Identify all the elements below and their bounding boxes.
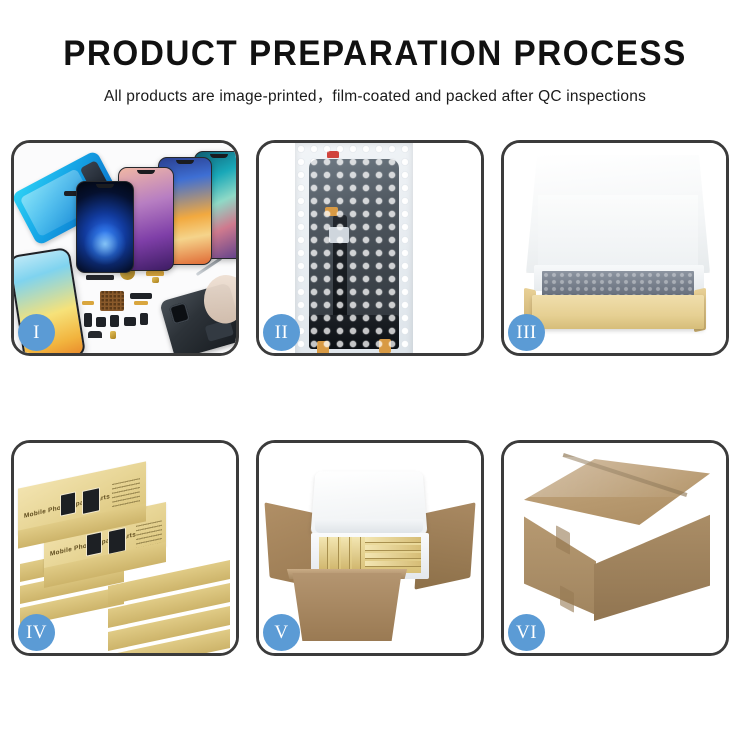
phone-display-fan-image (76, 151, 236, 273)
page-title: PRODUCT PREPARATION PROCESS (19, 36, 732, 71)
panel-5-numeral-badge: V (263, 614, 300, 651)
page-subtitle: All products are image-printed，film-coat… (0, 84, 750, 106)
process-step-panel-5: V (256, 440, 484, 656)
panel-6-numeral-badge: VI (508, 614, 545, 651)
process-step-panel-4: Mobile Phone Spare Parts Mobile Phone Sp… (11, 440, 239, 656)
panel-1-numeral-badge: I (18, 314, 55, 351)
panel-3-numeral-badge: III (508, 314, 545, 351)
process-step-panel-2: II (256, 140, 484, 356)
panel-4-numeral-badge: IV (18, 614, 55, 651)
process-step-panel-6: VI (501, 440, 729, 656)
carton-body-image (285, 573, 409, 641)
page-header: PRODUCT PREPARATION PROCESS All products… (0, 0, 750, 106)
process-step-panel-1: I (11, 140, 239, 356)
bubble-wrap-bag-image (295, 143, 413, 353)
spare-parts-group-image (80, 261, 236, 353)
panel-2-numeral-badge: II (263, 314, 300, 351)
retail-boxes-inside-image (319, 537, 421, 573)
kraft-tray-image (532, 295, 704, 329)
process-panel-grid: I II (11, 140, 739, 656)
process-step-panel-3: III (501, 140, 729, 356)
